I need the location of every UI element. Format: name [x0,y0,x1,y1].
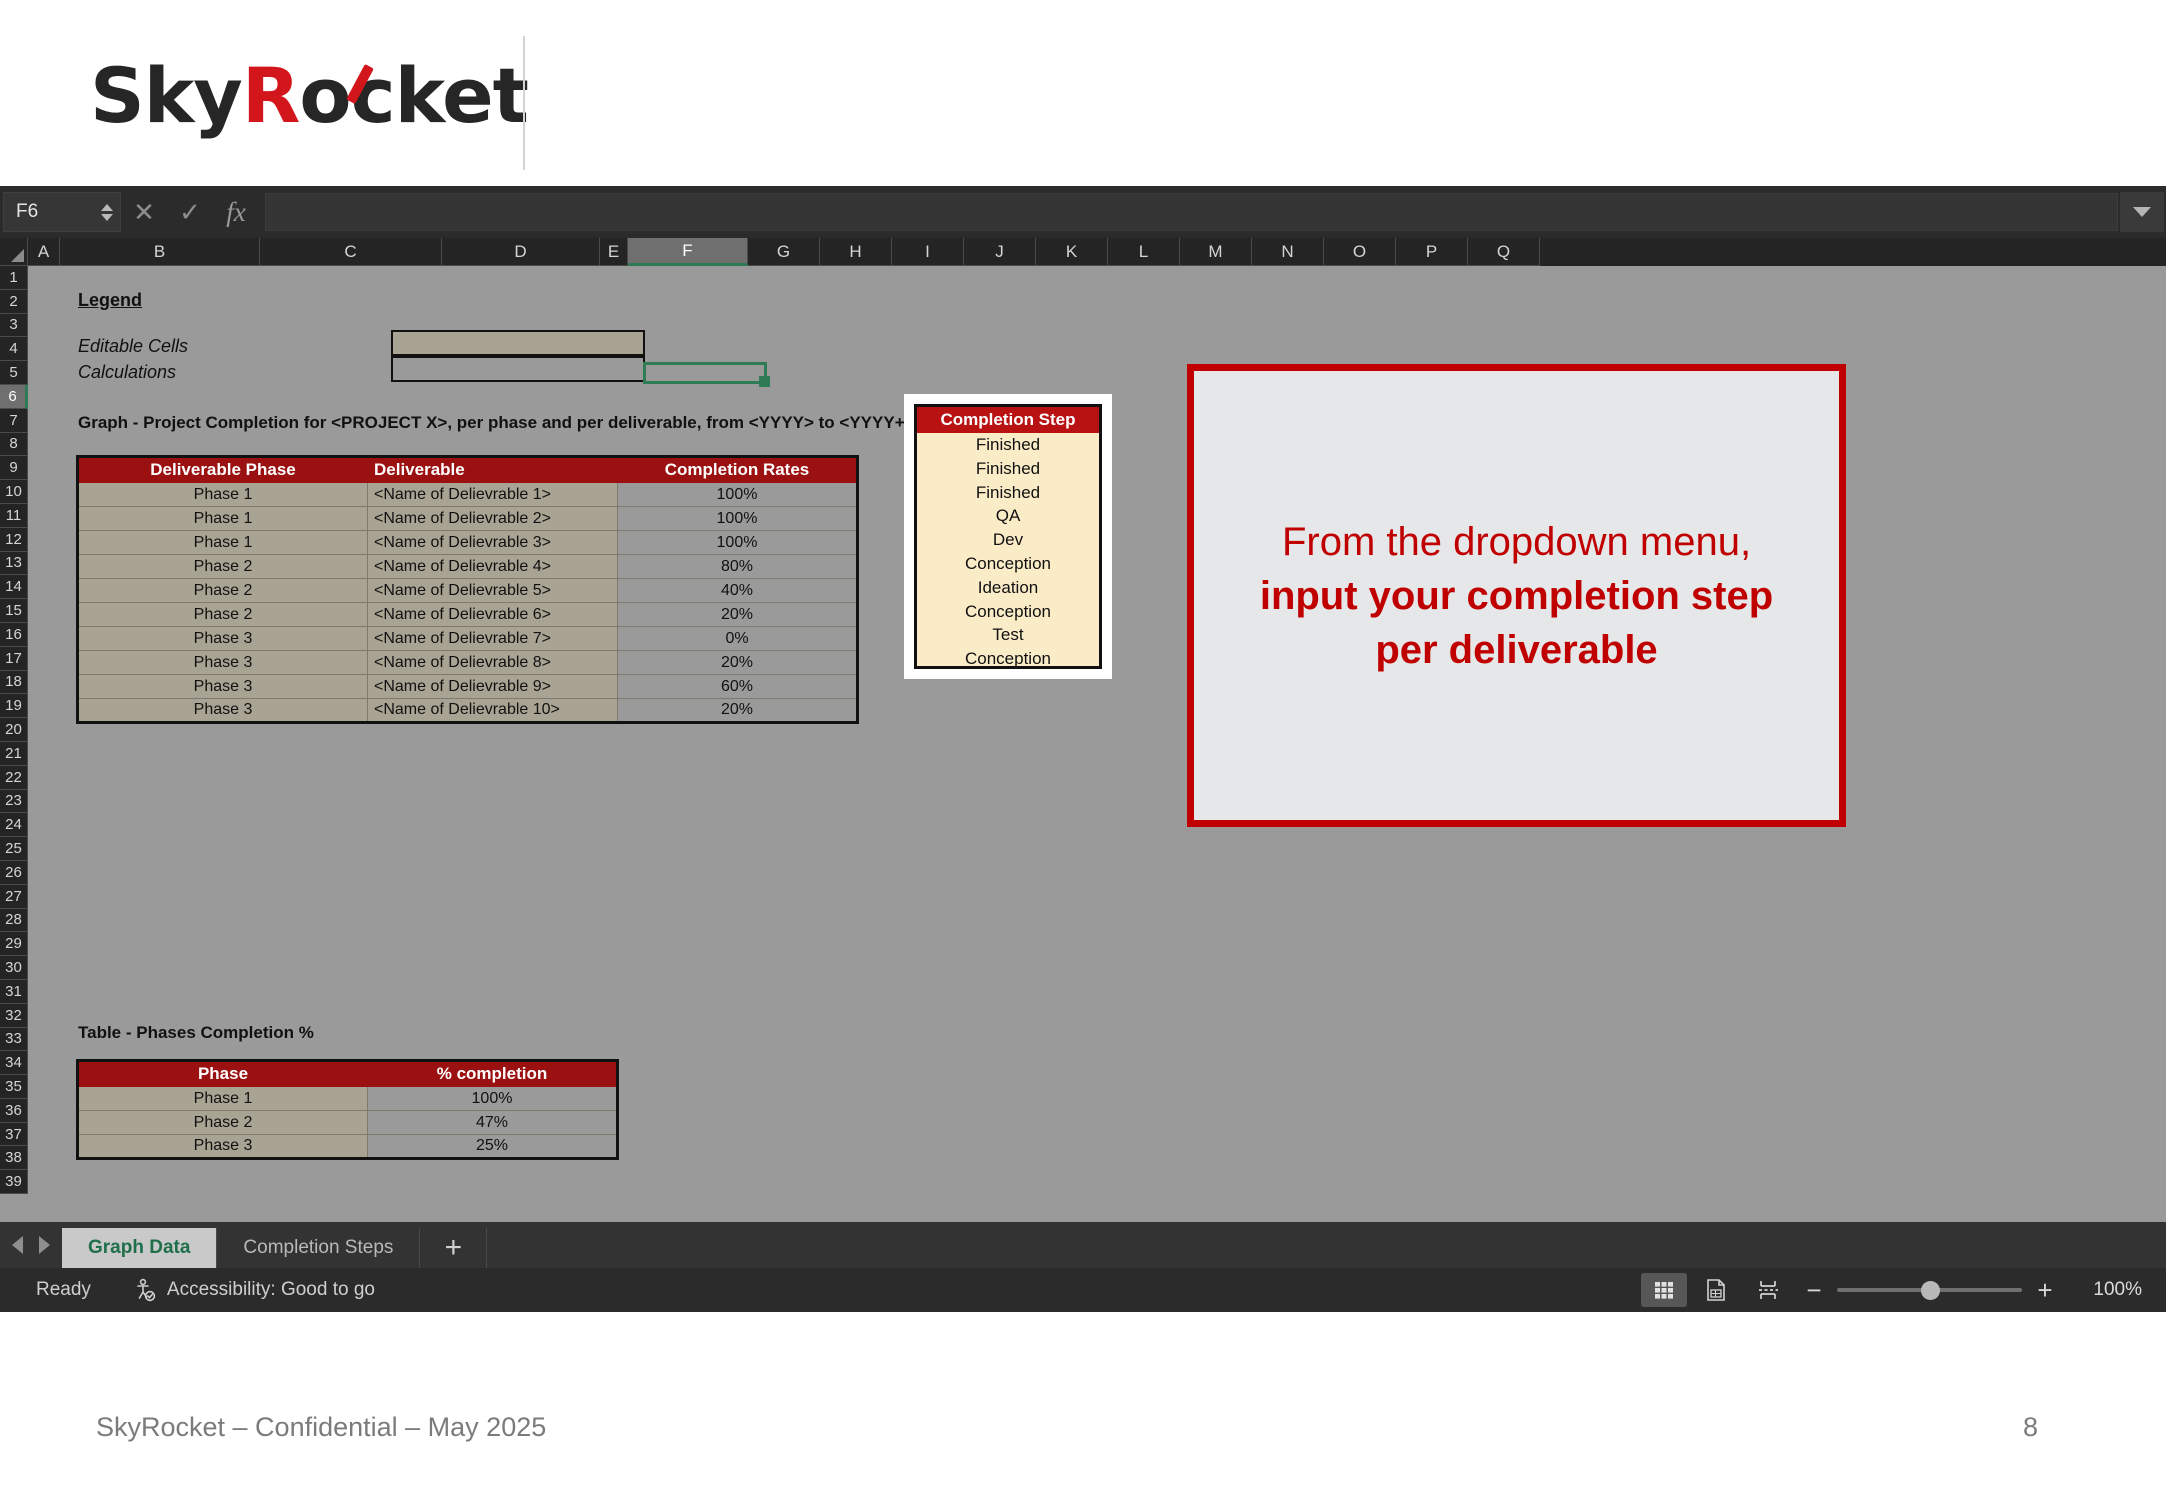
column-header-k[interactable]: K [1036,238,1108,266]
chevron-down-icon [2133,207,2151,217]
row-header-3[interactable]: 3 [0,314,28,338]
completion-step-item[interactable]: Conception [917,552,1099,576]
legend-swatch-editable-cells [391,330,645,356]
callout-line-1: From the dropdown menu, [1260,515,1773,569]
row-header-32[interactable]: 32 [0,1004,28,1028]
completion-step-item[interactable]: Dev [917,528,1099,552]
row-header-37[interactable]: 37 [0,1123,28,1147]
column-header-l[interactable]: L [1108,238,1180,266]
select-all-corner[interactable] [0,238,28,266]
cancel-icon[interactable]: ✕ [121,189,167,235]
confirm-icon[interactable]: ✓ [167,189,213,235]
table-row[interactable]: Phase 3<Name of Delievrable 7>0% [78,627,858,651]
row-header-17[interactable]: 17 [0,647,28,671]
insert-function-icon[interactable]: fx [213,189,259,235]
row-header-24[interactable]: 24 [0,813,28,837]
cell-deliverable[interactable]: <Name of Delievrable 10> [368,699,618,723]
table-row[interactable]: Phase 3<Name of Delievrable 10>20% [78,699,858,723]
cell-phase[interactable]: Phase 1 [78,531,368,555]
logo-text-ocket: ocket [299,51,528,140]
cell-completion-rate[interactable]: 20% [618,603,858,627]
column-header-h[interactable]: H [820,238,892,266]
column-header-row: ABCDEFGHIJKLMNOPQ [0,238,2166,266]
row-header-4[interactable]: 4 [0,337,28,361]
completion-step-item[interactable]: Conception [917,600,1099,624]
row-header-5[interactable]: 5 [0,361,28,385]
column-header-c[interactable]: C [260,238,442,266]
cell-phase[interactable]: Phase 1 [78,1087,368,1111]
page-number: 8 [2023,1412,2038,1443]
column-header-g[interactable]: G [748,238,820,266]
row-header-18[interactable]: 18 [0,671,28,695]
column-header-d[interactable]: D [442,238,600,266]
row-header-16[interactable]: 16 [0,623,28,647]
row-header-21[interactable]: 21 [0,742,28,766]
row-header-27[interactable]: 27 [0,885,28,909]
page-break-preview-button[interactable] [1745,1273,1791,1307]
cell-phase[interactable]: Phase 3 [78,1135,368,1159]
column-header-p[interactable]: P [1396,238,1468,266]
cell-pct-completion[interactable]: 25% [368,1135,618,1159]
table-row[interactable]: Phase 1<Name of Delievrable 3>100% [78,531,858,555]
completion-step-item[interactable]: QA [917,504,1099,528]
completion-step-header: Completion Step [917,407,1099,433]
cell-completion-rate[interactable]: 0% [618,627,858,651]
cell-deliverable[interactable]: <Name of Delievrable 5> [368,579,618,603]
cell-pct-completion[interactable]: 100% [368,1087,618,1111]
cell-phase[interactable]: Phase 3 [78,651,368,675]
row-header-22[interactable]: 22 [0,766,28,790]
expand-formula-bar-button[interactable] [2120,192,2164,232]
grid-icon [1651,1277,1677,1303]
page-layout-icon [1703,1277,1729,1303]
column-header-pct-completion: % completion [368,1061,618,1087]
deliverables-table[interactable]: Deliverable Phase Deliverable Completion… [76,455,859,724]
formula-bar: F6 ✕ ✓ fx [0,186,2166,238]
table-row[interactable]: Phase 1<Name of Delievrable 2>100% [78,507,858,531]
previous-sheet-icon[interactable] [12,1236,23,1254]
triangle-icon [11,249,24,262]
cell-phase[interactable]: Phase 2 [78,579,368,603]
completion-step-item[interactable]: Finished [917,457,1099,481]
completion-step-item[interactable]: Test [917,623,1099,647]
cell-completion-rate[interactable]: 40% [618,579,858,603]
cell-deliverable[interactable]: <Name of Delievrable 2> [368,507,618,531]
accessibility-icon [135,1278,157,1302]
chevron-down-icon [101,214,113,221]
cell-phase[interactable]: Phase 1 [78,483,368,507]
sheet-tab-bar: Graph DataCompletion Steps + [0,1222,2166,1268]
callout-line-3: per deliverable [1260,623,1773,677]
legend-label-calculations: Calculations [78,362,176,383]
accessibility-status[interactable]: Accessibility: Good to go [135,1278,375,1302]
row-header-15[interactable]: 15 [0,599,28,623]
row-header-28[interactable]: 28 [0,909,28,933]
completion-step-item[interactable]: Conception [917,647,1099,671]
zoom-slider[interactable] [1837,1273,2022,1307]
cell-deliverable[interactable]: <Name of Delievrable 4> [368,555,618,579]
table-header-row: Deliverable Phase Deliverable Completion… [78,457,858,483]
table-row[interactable]: Phase 2<Name of Delievrable 5>40% [78,579,858,603]
row-header-35[interactable]: 35 [0,1075,28,1099]
status-bar: Ready Accessibility: Good to go [0,1268,2166,1312]
table-row[interactable]: Phase 2<Name of Delievrable 6>20% [78,603,858,627]
callout-line-2: input your completion step [1260,569,1773,623]
cell-completion-rate[interactable]: 60% [618,675,858,699]
sheet-tab-graph-data[interactable]: Graph Data [62,1228,217,1268]
column-header-a[interactable]: A [28,238,60,266]
name-box-value: F6 [4,201,98,223]
row-header-20[interactable]: 20 [0,718,28,742]
zoom-slider-thumb[interactable] [1921,1281,1940,1300]
page-break-icon [1755,1277,1781,1303]
column-header-j[interactable]: J [964,238,1036,266]
slide-footer: SkyRocket – Confidential – May 2025 8 [0,1312,2166,1500]
cell-completion-rate[interactable]: 80% [618,555,858,579]
zoom-level-label[interactable]: 100% [2068,1279,2142,1301]
zoom-out-button[interactable]: − [1797,1273,1831,1307]
column-header-deliverable: Deliverable [368,457,618,483]
selected-cell-f6[interactable] [643,362,767,384]
column-header-o[interactable]: O [1324,238,1396,266]
cell-phase[interactable]: Phase 1 [78,507,368,531]
table-row[interactable]: Phase 1<Name of Delievrable 1>100% [78,483,858,507]
completion-step-panel: Completion Step FinishedFinishedFinished… [904,394,1112,679]
logo-text-sky: Sky [90,51,242,140]
completion-step-list[interactable]: Completion Step FinishedFinishedFinished… [914,404,1102,669]
cell-phase[interactable]: Phase 2 [78,603,368,627]
cell-phase[interactable]: Phase 3 [78,699,368,723]
excel-window: F6 ✕ ✓ fx ABCDEFGHIJKLMNOPQ 123456789101… [0,186,2166,1312]
row-header-column: 1234567891011121314151617181920212223242… [0,266,28,1194]
cell-completion-rate[interactable]: 20% [618,651,858,675]
column-header-phase: Phase [78,1061,368,1087]
header-divider [523,36,525,170]
cell-completion-rate[interactable]: 100% [618,507,858,531]
cell-deliverable[interactable]: <Name of Delievrable 3> [368,531,618,555]
callout-text: From the dropdown menu, input your compl… [1236,515,1797,677]
cell-completion-rate[interactable]: 100% [618,531,858,555]
row-header-11[interactable]: 11 [0,504,28,528]
sheet-nav-arrows[interactable] [0,1222,62,1268]
table-row[interactable]: Phase 247% [78,1111,618,1135]
row-header-34[interactable]: 34 [0,1051,28,1075]
zoom-in-button[interactable]: + [2028,1273,2062,1307]
row-header-26[interactable]: 26 [0,861,28,885]
next-sheet-icon[interactable] [39,1236,50,1254]
row-header-9[interactable]: 9 [0,456,28,480]
add-sheet-button[interactable]: + [420,1228,487,1268]
formula-input[interactable] [265,193,2118,231]
footer-confidentiality-text: SkyRocket – Confidential – May 2025 [96,1412,546,1443]
status-ready-text: Ready [36,1279,91,1301]
logo-text-r: R [242,51,300,140]
row-header-23[interactable]: 23 [0,790,28,814]
row-header-36[interactable]: 36 [0,1099,28,1123]
table-header-row: Phase % completion [78,1061,618,1087]
phases-completion-table[interactable]: Phase % completion Phase 1100%Phase 247%… [76,1059,619,1160]
fill-handle[interactable] [759,376,770,387]
row-header-14[interactable]: 14 [0,575,28,599]
slide-header: SkyRocket [0,0,2166,186]
column-header-deliverable-phase: Deliverable Phase [78,457,368,483]
name-box[interactable]: F6 [3,192,121,232]
completion-step-item[interactable]: Ideation [917,576,1099,600]
phases-table-title: Table - Phases Completion % [78,1023,314,1043]
table-row[interactable]: Phase 2<Name of Delievrable 4>80% [78,555,858,579]
cell-pct-completion[interactable]: 47% [368,1111,618,1135]
cell-deliverable[interactable]: <Name of Delievrable 8> [368,651,618,675]
chevron-up-icon [101,204,113,211]
view-and-zoom-controls: − + 100% [1641,1273,2166,1307]
name-box-spinner[interactable] [98,204,120,221]
row-header-2[interactable]: 2 [0,290,28,314]
column-header-b[interactable]: B [60,238,260,266]
table-row[interactable]: Phase 3<Name of Delievrable 8>20% [78,651,858,675]
row-header-7[interactable]: 7 [0,409,28,433]
cell-phase[interactable]: Phase 2 [78,1111,368,1135]
skyrocket-logo: SkyRocket [90,48,528,144]
column-header-i[interactable]: I [892,238,964,266]
legend-title: Legend [78,290,142,311]
completion-step-item[interactable]: Finished [917,433,1099,457]
cell-deliverable[interactable]: <Name of Delievrable 1> [368,483,618,507]
legend-label-editable-cells: Editable Cells [78,336,188,357]
column-header-completion-rates: Completion Rates [618,457,858,483]
page-layout-view-button[interactable] [1693,1273,1739,1307]
cell-deliverable[interactable]: <Name of Delievrable 9> [368,675,618,699]
row-header-33[interactable]: 33 [0,1028,28,1052]
row-header-8[interactable]: 8 [0,433,28,457]
row-header-29[interactable]: 29 [0,932,28,956]
column-header-e[interactable]: E [600,238,628,266]
row-header-10[interactable]: 10 [0,480,28,504]
accessibility-text: Accessibility: Good to go [167,1279,375,1301]
sheet-tab-completion-steps[interactable]: Completion Steps [217,1228,420,1268]
completion-step-item[interactable]: Finished [917,481,1099,505]
row-header-31[interactable]: 31 [0,980,28,1004]
row-header-39[interactable]: 39 [0,1170,28,1194]
cell-phase[interactable]: Phase 3 [78,675,368,699]
legend-swatch-calculations [391,356,645,382]
normal-view-button[interactable] [1641,1273,1687,1307]
column-header-m[interactable]: M [1180,238,1252,266]
table-row[interactable]: Phase 3<Name of Delievrable 9>60% [78,675,858,699]
table-row[interactable]: Phase 1100% [78,1087,618,1111]
instruction-callout: From the dropdown menu, input your compl… [1187,364,1846,827]
cell-phase[interactable]: Phase 3 [78,627,368,651]
logo-wordmark: SkyRocket [90,58,528,134]
cell-phase[interactable]: Phase 2 [78,555,368,579]
row-header-30[interactable]: 30 [0,956,28,980]
column-header-f[interactable]: F [628,238,748,266]
column-header-n[interactable]: N [1252,238,1324,266]
row-header-38[interactable]: 38 [0,1146,28,1170]
row-header-19[interactable]: 19 [0,694,28,718]
row-header-25[interactable]: 25 [0,837,28,861]
cell-completion-rate[interactable]: 100% [618,483,858,507]
row-header-13[interactable]: 13 [0,552,28,576]
cell-completion-rate[interactable]: 20% [618,699,858,723]
row-header-12[interactable]: 12 [0,528,28,552]
cell-deliverable[interactable]: <Name of Delievrable 6> [368,603,618,627]
row-header-1[interactable]: 1 [0,266,28,290]
table-row[interactable]: Phase 325% [78,1135,618,1159]
graph-section-title: Graph - Project Completion for <PROJECT … [78,413,924,433]
cell-deliverable[interactable]: <Name of Delievrable 7> [368,627,618,651]
column-header-q[interactable]: Q [1468,238,1540,266]
row-header-6[interactable]: 6 [0,385,28,409]
